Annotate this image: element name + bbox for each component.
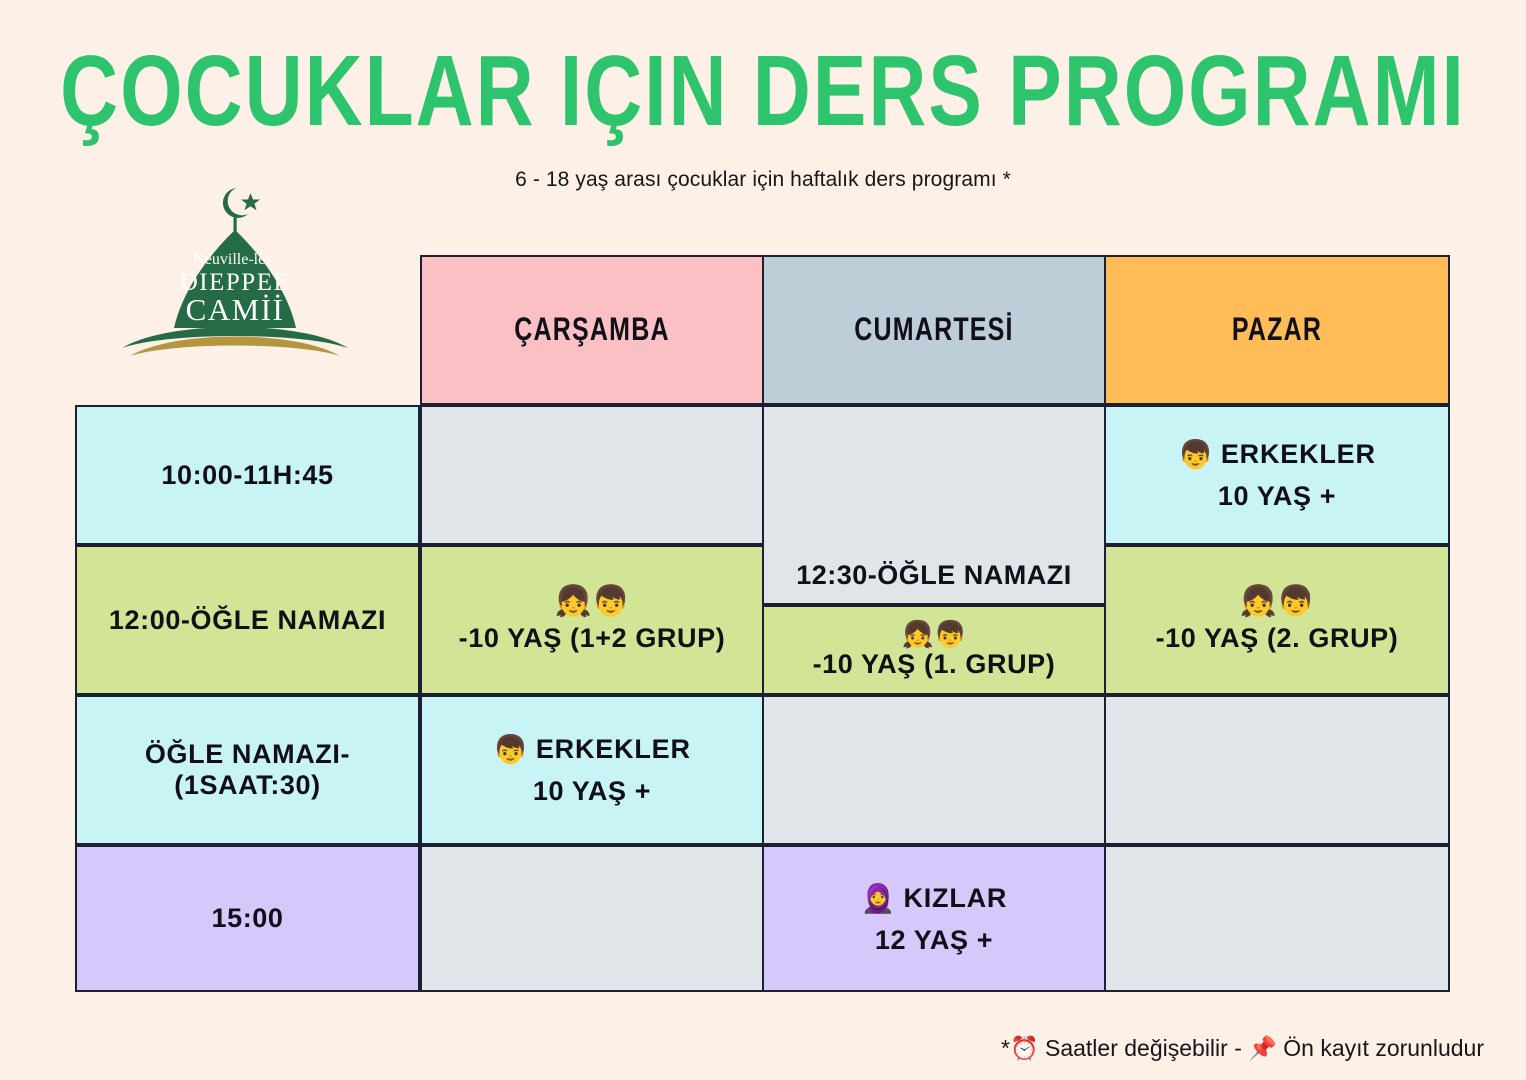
time-slot-2: 12:00-ÖĞLE NAMAZI bbox=[75, 545, 420, 695]
time-slot-4: 15:00 bbox=[75, 845, 420, 992]
cell-pazar-slot4-empty bbox=[1104, 845, 1450, 992]
schedule-table: ÇARŞAMBA CUMARTESİ PAZAR 10:00-11H:45 12… bbox=[75, 255, 1450, 995]
children-emoji: 👧👦 bbox=[555, 587, 630, 617]
cell-text: -10 YAŞ (2. GRUP) bbox=[1156, 623, 1399, 654]
cell-cumartesi-slot4: 🧕 KIZLAR 12 YAŞ + bbox=[762, 845, 1106, 992]
cell-carsamba-slot3: 👦 ERKEKLER 10 YAŞ + bbox=[420, 695, 764, 845]
cell-cumartesi-group: 👧👦 -10 YAŞ (1. GRUP) bbox=[762, 605, 1106, 695]
time-label: ÖĞLE NAMAZI-(1SAAT:30) bbox=[85, 739, 410, 801]
day-header-label: ÇARŞAMBA bbox=[514, 311, 669, 348]
cell-text-line1: KIZLAR bbox=[903, 883, 1007, 914]
cell-text-line1: ERKEKLER bbox=[1221, 439, 1376, 470]
cell-carsamba-slot1-empty bbox=[420, 405, 764, 545]
page-title: ÇOCUKLAR IÇIN DERS PROGRAMI bbox=[15, 42, 1510, 142]
footer-note: *⏰ Saatler değişebilir - 📌 Ön kayıt zoru… bbox=[1001, 1035, 1484, 1062]
girl-headscarf-emoji: 🧕 bbox=[861, 882, 897, 915]
cell-cumartesi-slot3-empty bbox=[762, 695, 1106, 845]
day-header-cumartesi: CUMARTESİ bbox=[762, 255, 1106, 405]
time-label: 15:00 bbox=[211, 903, 283, 934]
day-header-label: CUMARTESİ bbox=[854, 311, 1013, 348]
cell-text-line2: 10 YAŞ + bbox=[1218, 481, 1336, 512]
cell-text-line1: ERKEKLER bbox=[536, 734, 691, 765]
time-slot-1: 10:00-11H:45 bbox=[75, 405, 420, 545]
cell-carsamba-slot4-empty bbox=[420, 845, 764, 992]
boy-emoji: 👦 bbox=[1178, 438, 1214, 471]
time-label: 12:00-ÖĞLE NAMAZI bbox=[109, 605, 386, 636]
cell-pazar-slot1: 👦 ERKEKLER 10 YAŞ + bbox=[1104, 405, 1450, 545]
cell-text-line2: 10 YAŞ + bbox=[533, 776, 651, 807]
day-header-carsamba: ÇARŞAMBA bbox=[420, 255, 764, 405]
prayer-time-label: 12:30-ÖĞLE NAMAZI bbox=[796, 560, 1072, 591]
children-emoji: 👧👦 bbox=[1240, 587, 1315, 617]
cell-text-line2: 12 YAŞ + bbox=[875, 925, 993, 956]
cell-text: -10 YAŞ (1+2 GRUP) bbox=[459, 623, 726, 654]
cell-pazar-slot3-empty bbox=[1104, 695, 1450, 845]
day-header-label: PAZAR bbox=[1232, 311, 1322, 348]
cell-cumartesi-prayer: 12:30-ÖĞLE NAMAZI bbox=[762, 405, 1106, 605]
time-label: 10:00-11H:45 bbox=[161, 460, 333, 491]
boy-emoji: 👦 bbox=[493, 733, 529, 766]
cell-carsamba-slot2: 👧👦 -10 YAŞ (1+2 GRUP) bbox=[420, 545, 764, 695]
day-header-pazar: PAZAR bbox=[1104, 255, 1450, 405]
cell-pazar-slot2: 👧👦 -10 YAŞ (2. GRUP) bbox=[1104, 545, 1450, 695]
children-emoji: 👧👦 bbox=[902, 621, 967, 647]
cell-text: -10 YAŞ (1. GRUP) bbox=[813, 649, 1056, 680]
time-slot-3: ÖĞLE NAMAZI-(1SAAT:30) bbox=[75, 695, 420, 845]
